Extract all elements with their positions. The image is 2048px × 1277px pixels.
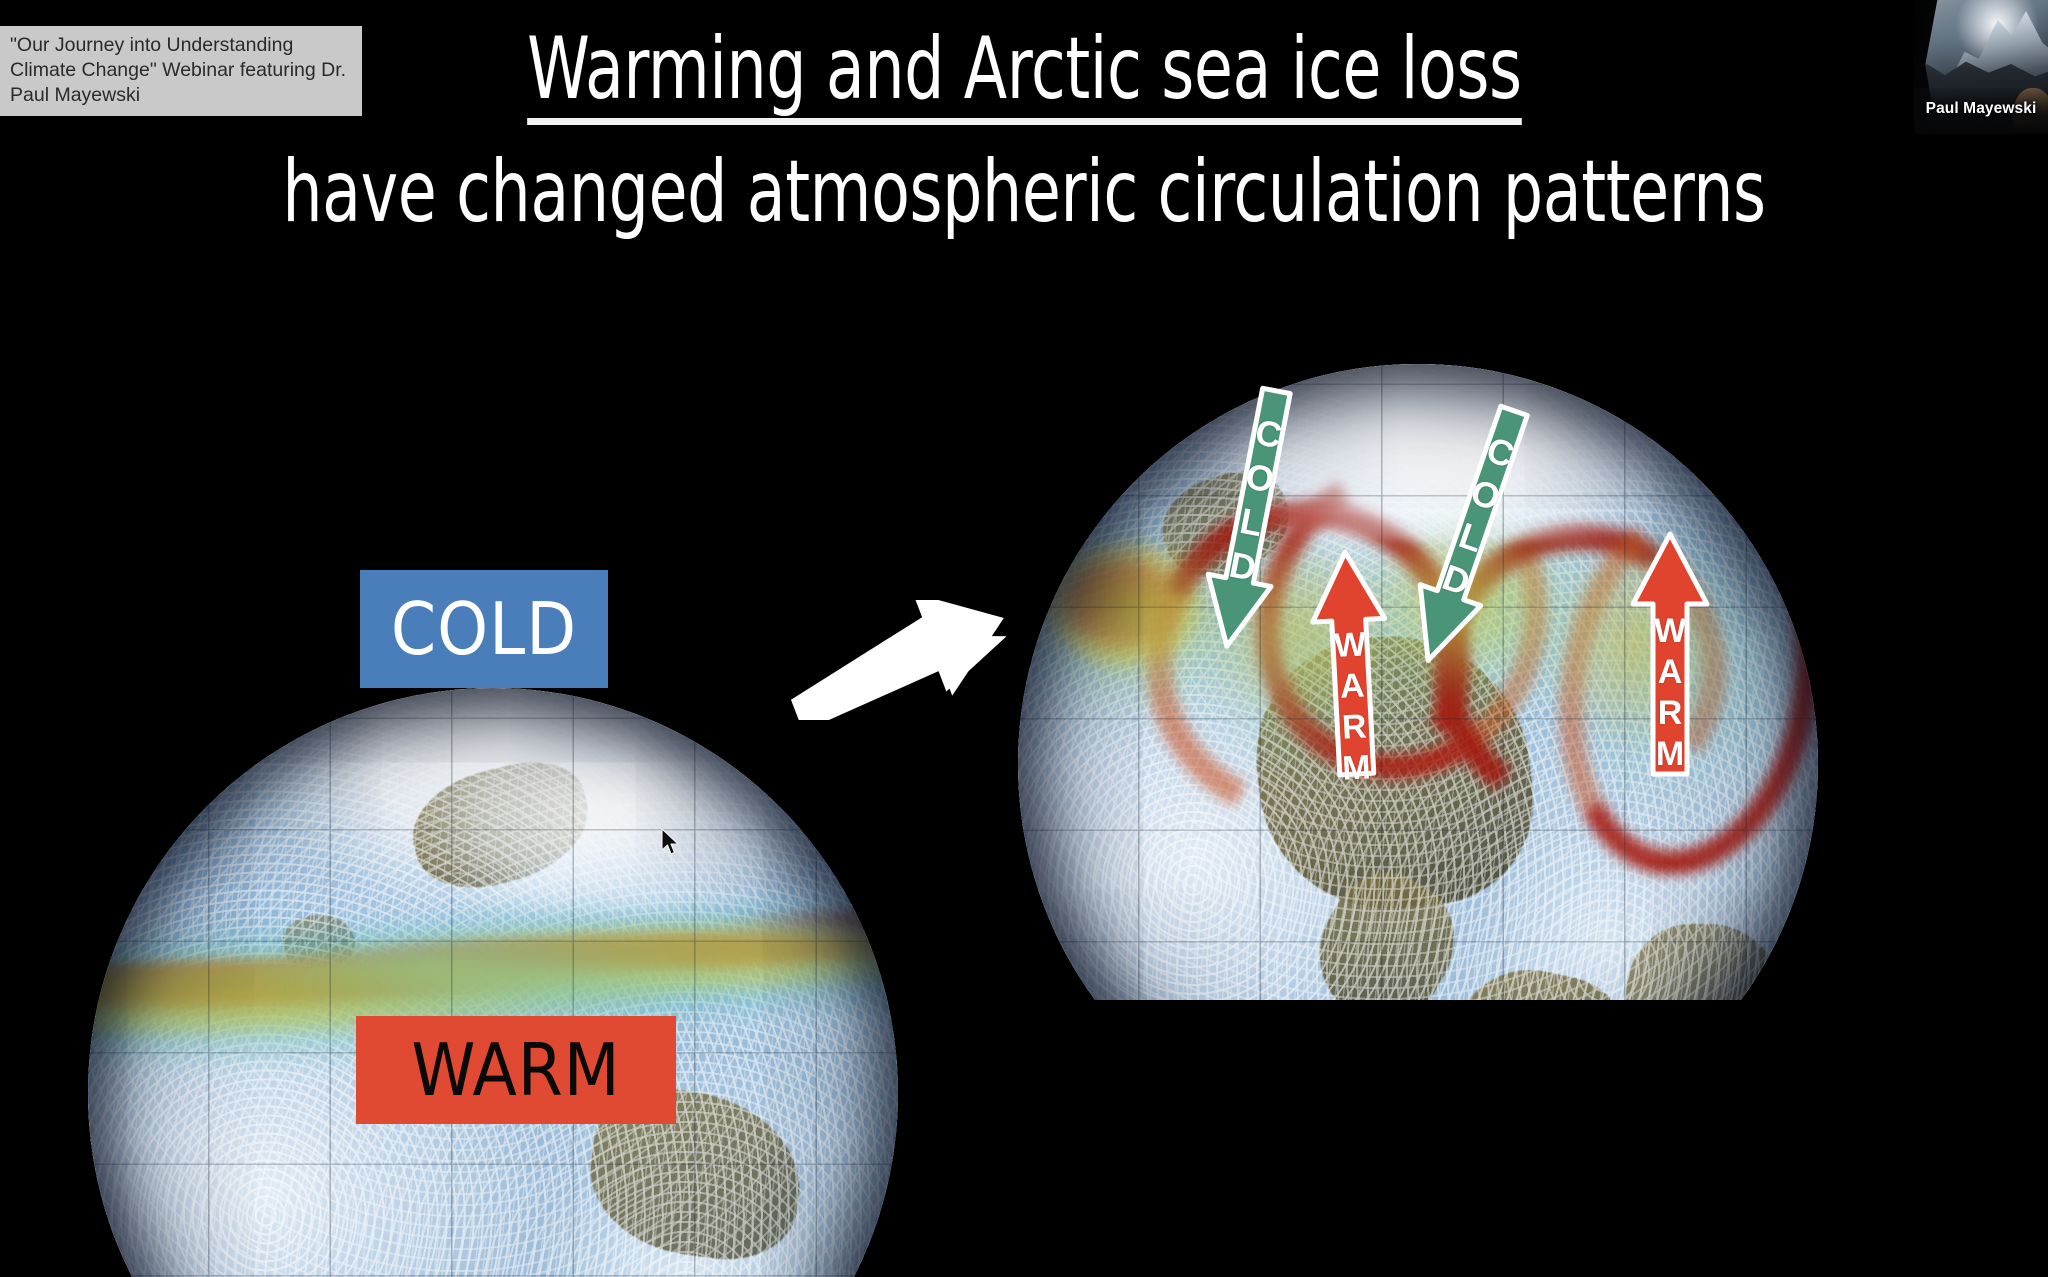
left-globe-disc — [88, 688, 898, 1277]
speaker-video-thumbnail[interactable]: Paul Mayewski — [1914, 0, 2048, 134]
label-cold-box: COLD — [360, 570, 608, 688]
left-globe-zonal-jet — [88, 688, 898, 1277]
title-line-1: Warming and Arctic sea ice loss — [527, 26, 1522, 125]
label-cold-text: COLD — [391, 587, 577, 671]
speaker-name-label: Paul Mayewski — [1914, 100, 2048, 118]
label-warm-box: WARM — [356, 1016, 676, 1124]
webinar-caption-overlay: "Our Journey into Understanding Climate … — [0, 26, 362, 116]
transition-arrow-icon — [780, 600, 1020, 720]
label-warm-text: WARM — [411, 1028, 620, 1112]
right-globe-disc — [1018, 364, 1818, 1164]
right-globe-wavy-jet — [1018, 364, 1818, 1164]
slide-canvas: COLD WARM COLD WARM — [0, 0, 2048, 1277]
webinar-caption-text: "Our Journey into Understanding Climate … — [10, 34, 346, 106]
title-line-2: have changed atmospheric circulation pat… — [184, 149, 1863, 235]
mouse-cursor-icon — [661, 828, 683, 858]
right-globe-limb-shading — [1018, 364, 1818, 1164]
